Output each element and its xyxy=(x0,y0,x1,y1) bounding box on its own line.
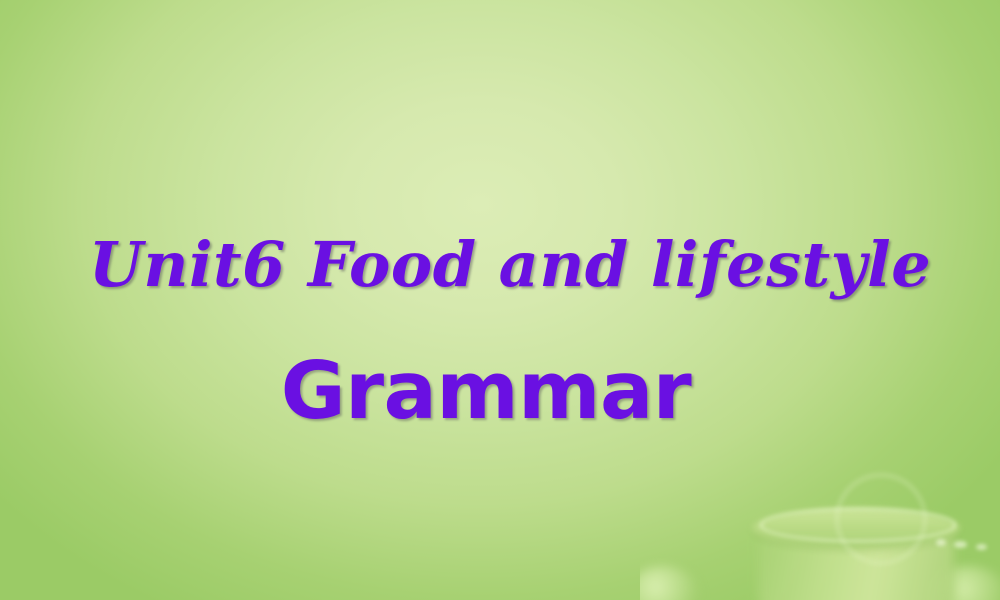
slide-subtitle: Grammar xyxy=(0,352,972,431)
presentation-slide: Unit6 Food and lifestyle Grammar xyxy=(0,0,1000,600)
slide-title: Unit6 Food and lifestyle xyxy=(0,232,1000,298)
slide-text-block: Unit6 Food and lifestyle Grammar xyxy=(0,0,1000,600)
